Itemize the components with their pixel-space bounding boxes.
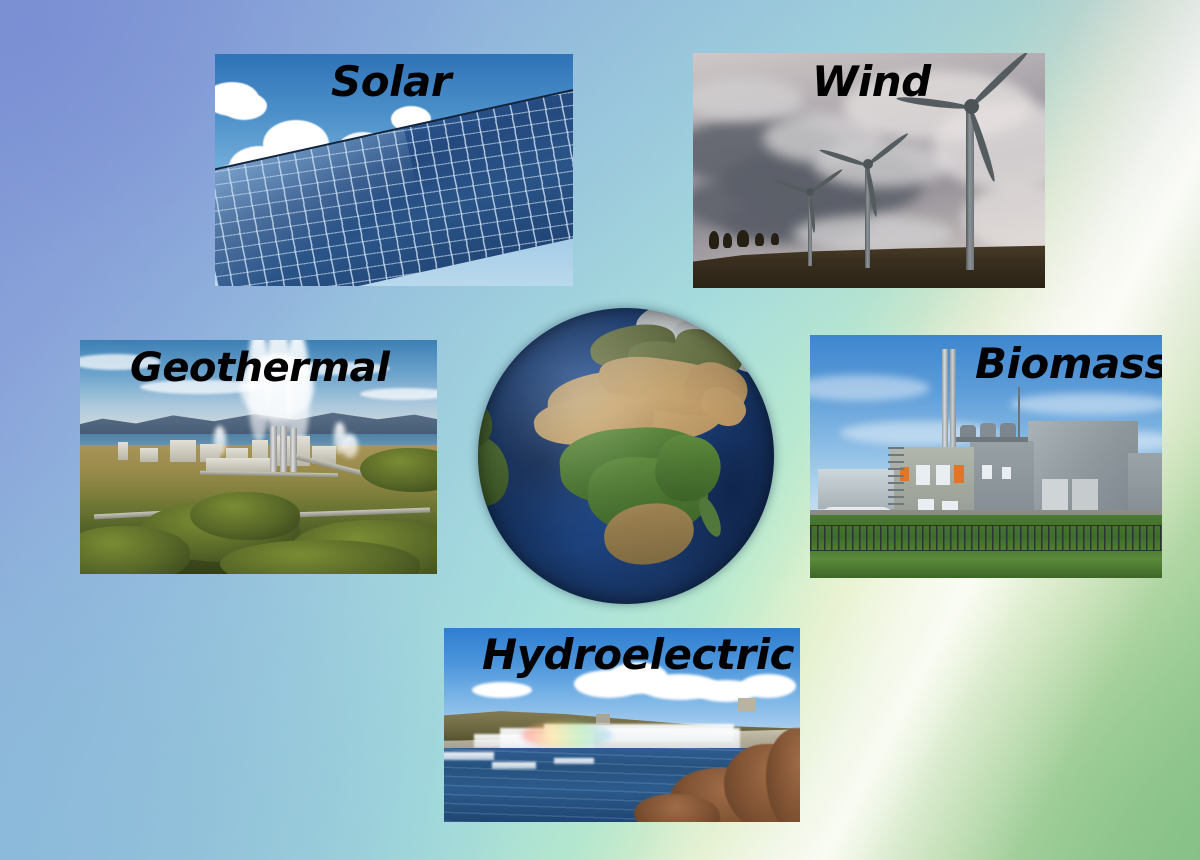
plant-building <box>170 440 196 462</box>
renewable-energy-poster: Solar <box>0 0 1200 860</box>
window <box>936 465 950 485</box>
steam-stack <box>280 426 287 472</box>
card-wind[interactable]: Wind <box>693 53 1045 288</box>
tree <box>771 233 779 245</box>
tree <box>737 230 749 247</box>
card-biomass[interactable]: Biomass <box>810 335 1162 578</box>
turbine-blade <box>809 168 844 195</box>
steam-stack <box>270 426 277 472</box>
turbine-hub <box>964 99 979 114</box>
card-geothermal[interactable]: Geothermal <box>80 340 437 574</box>
plant-building <box>118 442 128 460</box>
water-foam <box>444 752 494 760</box>
steam-stack <box>290 428 297 472</box>
tree <box>709 231 719 249</box>
chimney <box>942 349 948 459</box>
card-hydroelectric[interactable]: Hydroelectric <box>444 628 800 822</box>
rainbow <box>522 722 612 748</box>
turbine-tower <box>966 105 974 270</box>
window <box>954 465 964 483</box>
water-foam <box>492 762 536 769</box>
water-foam <box>554 758 594 764</box>
card-label-hydroelectric: Hydroelectric <box>482 634 794 676</box>
globe-sphere <box>478 308 774 604</box>
roof-rail <box>956 437 1028 442</box>
window <box>916 465 930 485</box>
card-label-solar: Solar <box>331 61 451 103</box>
card-label-wind: Wind <box>812 61 931 103</box>
turbine-hub <box>863 159 873 169</box>
turbine-hub <box>806 188 814 196</box>
tree <box>755 233 764 246</box>
steam-plume <box>342 434 358 458</box>
window <box>1002 467 1011 479</box>
cloud <box>1010 393 1162 415</box>
chimney <box>950 349 956 459</box>
outbuilding <box>818 469 894 509</box>
card-solar[interactable]: Solar <box>215 54 573 286</box>
globe-rim <box>478 308 774 604</box>
plant-building <box>206 458 272 472</box>
cloud <box>472 682 532 698</box>
card-label-biomass: Biomass <box>975 343 1162 385</box>
dam-tower <box>738 698 756 712</box>
card-label-geothermal: Geothermal <box>130 348 389 388</box>
earth-globe <box>478 308 774 604</box>
wind-turbine-small <box>791 153 861 288</box>
moss-mound <box>190 492 300 540</box>
perimeter-fence <box>810 525 1162 551</box>
wind-turbine-large <box>939 53 1045 288</box>
tree <box>723 233 732 248</box>
plant-building <box>140 448 158 462</box>
window <box>982 465 992 479</box>
dam-gatehouse <box>596 714 610 724</box>
cloud <box>221 92 267 120</box>
